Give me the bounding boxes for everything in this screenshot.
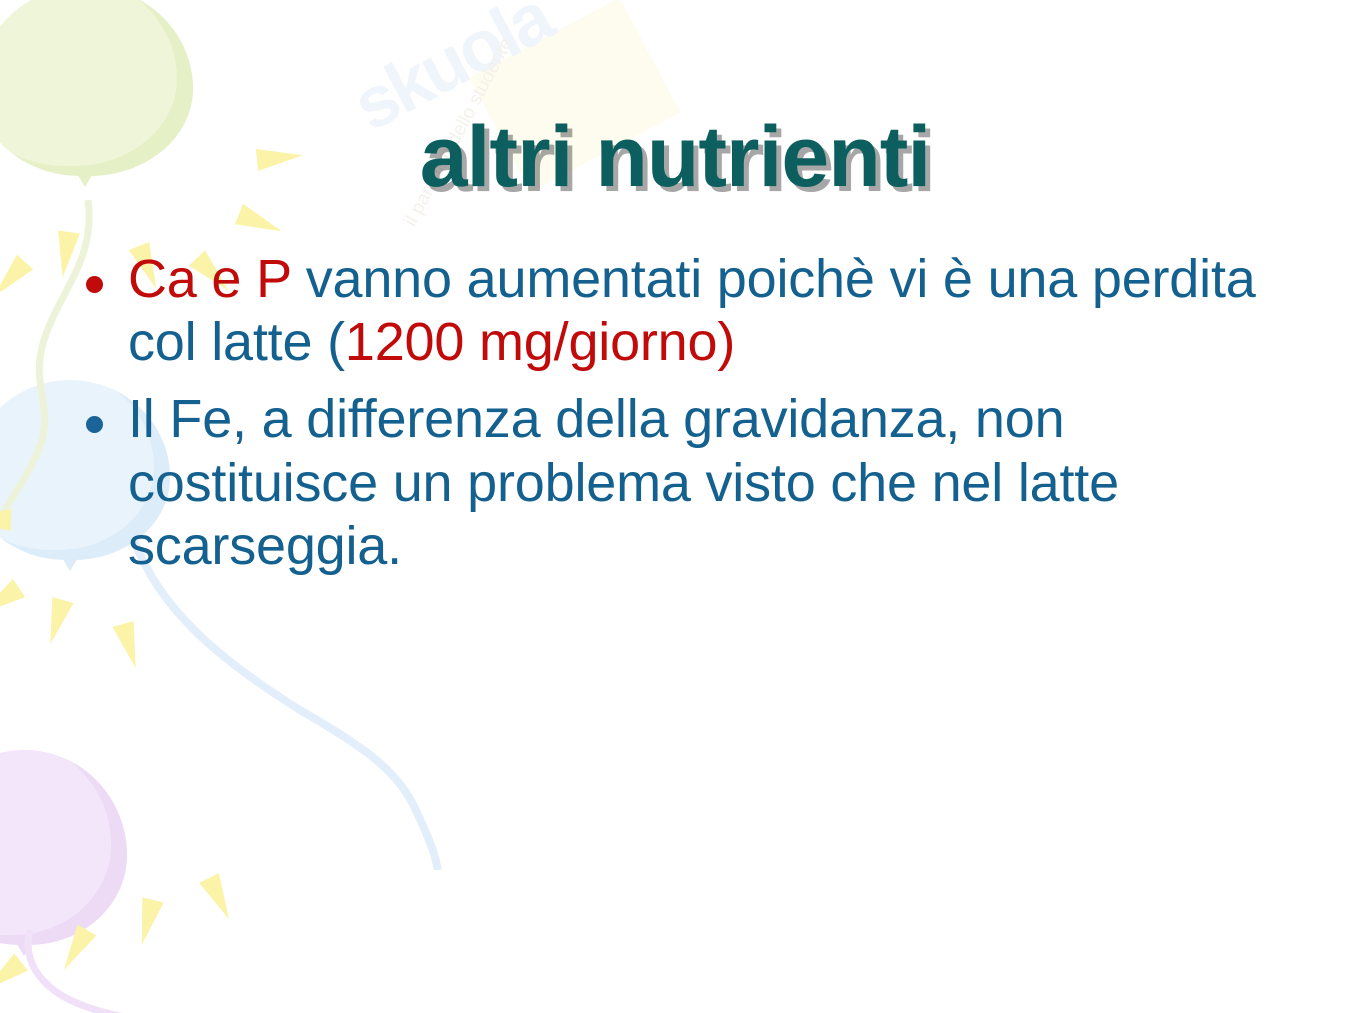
ray-icon [131,897,163,947]
bullet-text: Ca e P vanno aumentati poichè vi è una p… [128,248,1266,374]
bullet-item: Il Fe, a differenza della gravidanza, no… [86,388,1266,578]
ray-icon [52,230,80,279]
bullet-dot-icon [86,416,103,433]
ray-icon [112,621,146,671]
bullet-text: Il Fe, a differenza della gravidanza, no… [128,388,1266,578]
bullet-marker-blue [86,388,128,433]
balloon-purple-icon [0,750,127,945]
bullet-item: Ca e P vanno aumentati poichè vi è una p… [86,248,1266,374]
bullet-dot-icon [86,276,103,293]
ray-icon [199,873,239,924]
bullet-1-segment-1: Ca e P [128,249,306,309]
ray-icon [0,507,11,531]
bullet-2-segment-1: Il Fe, a differenza della gravidanza, no… [128,389,1119,575]
ray-icon [40,597,74,647]
ray-icon [235,204,286,242]
balloon-string-purple [0,930,200,1013]
ray-icon [54,925,96,976]
slide-title: altri nutrienti [0,108,1350,207]
bullet-marker-red [86,248,128,293]
ray-icon [0,579,25,623]
presentation-slide: skuola il paradiso dello studente altri … [0,0,1350,1013]
slide-body: Ca e P vanno aumentati poichè vi è una p… [86,248,1266,592]
ray-icon [0,953,28,999]
bullet-1-segment-3: 1200 mg/giorno) [345,312,735,372]
ray-icon [0,255,33,304]
